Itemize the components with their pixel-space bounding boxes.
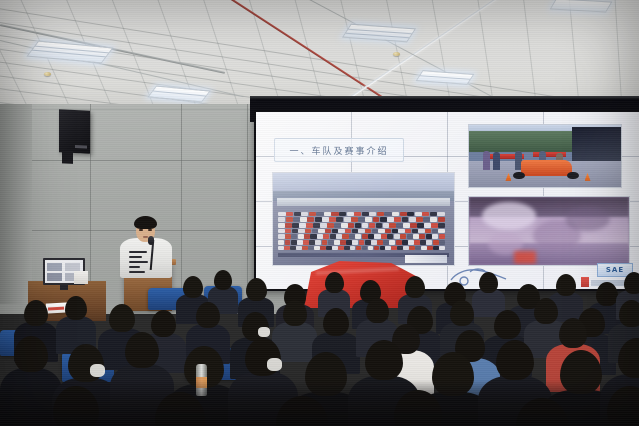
water-bottle-on-desk	[196, 364, 207, 396]
audience-head	[496, 340, 534, 380]
wall-speaker	[59, 109, 90, 154]
slide-title-box: 一、车队及赛事介绍	[274, 138, 404, 162]
audience-head	[151, 310, 176, 337]
side-wall	[0, 104, 32, 304]
smoke-detector	[44, 72, 51, 76]
audience-head	[366, 298, 389, 323]
audience-head	[246, 278, 267, 301]
shirt-graphic	[129, 251, 149, 273]
audience-head	[450, 300, 474, 326]
face-mask	[267, 358, 282, 371]
audience-head	[534, 298, 558, 324]
monitor-stand	[60, 285, 68, 290]
presenter-hair	[134, 216, 157, 229]
audience-head	[479, 272, 498, 293]
audience-head	[325, 272, 344, 293]
audience-head	[125, 332, 159, 368]
sae-logo-mark	[581, 277, 589, 287]
racecar-action-photo	[468, 196, 630, 266]
lecture-hall-photo: 一、车队及赛事介绍	[0, 0, 639, 426]
audience-head	[405, 276, 425, 298]
audience-head	[283, 300, 307, 326]
audience-head	[65, 296, 87, 320]
audience-head	[494, 310, 521, 339]
audience-head	[109, 304, 135, 332]
audience-head	[556, 274, 576, 296]
audience-head	[596, 282, 618, 306]
slide-title-text: 一、车队及赛事介绍	[289, 144, 388, 157]
audience-head	[365, 340, 403, 380]
audience-head	[196, 302, 220, 328]
video-wall-display[interactable]: 一、车队及赛事介绍	[256, 112, 639, 289]
presenter-torso	[120, 238, 172, 278]
audience-head	[559, 318, 587, 348]
binder-on-desk	[74, 271, 88, 284]
audience-head	[560, 350, 602, 394]
audience-head	[323, 308, 349, 336]
audience-head	[432, 352, 474, 396]
microphone-head	[148, 236, 154, 245]
audience-head	[305, 352, 347, 396]
face-mask	[90, 364, 105, 377]
audience-head	[624, 272, 639, 294]
racecar-pit-photo	[468, 124, 622, 188]
team-group-photo	[272, 172, 455, 266]
audience-head	[214, 270, 232, 290]
audience-head	[24, 300, 48, 326]
smoke-detector	[393, 52, 400, 56]
audience-head	[619, 300, 639, 327]
audience-head	[14, 336, 48, 372]
sae-logo-text: SAE	[606, 266, 624, 274]
face-mask	[258, 327, 269, 337]
audience-head	[183, 276, 203, 298]
